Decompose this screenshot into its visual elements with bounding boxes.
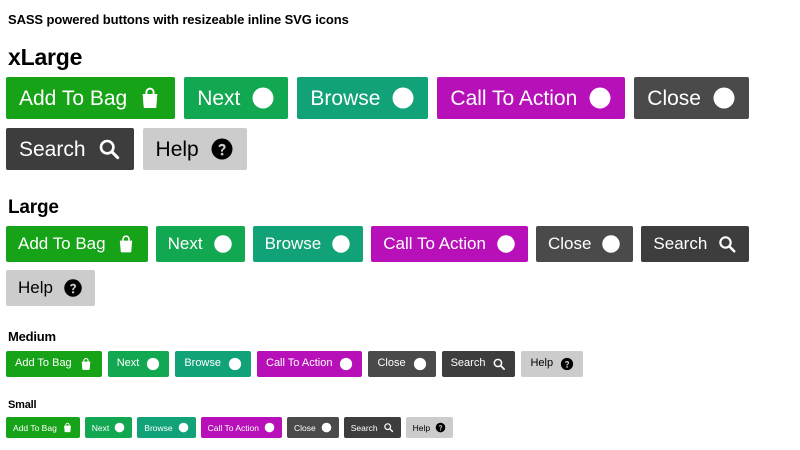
add-to-bag-button-label: Add To Bag <box>15 358 72 369</box>
help-button-medium[interactable]: Help <box>521 351 583 377</box>
button-row-small: Add To BagNextBrowseCall To ActionCloseS… <box>6 417 792 443</box>
question-circle-icon <box>435 422 446 433</box>
help-button-large[interactable]: Help <box>6 270 95 306</box>
close-circle-icon <box>321 422 332 433</box>
shopping-bag-icon <box>116 234 136 254</box>
magnifier-icon <box>492 357 506 371</box>
section-xsmall: xSmall Add To BagNextBrowseCall To Actio… <box>6 443 792 450</box>
close-circle-icon <box>712 86 736 110</box>
browse-button-xlarge[interactable]: Browse <box>297 77 428 119</box>
section-heading-xsmall: xSmall <box>8 443 792 450</box>
close-button-label: Close <box>548 235 591 252</box>
shopping-bag-icon <box>62 422 73 433</box>
shopping-bag-icon <box>79 357 93 371</box>
next-button-large[interactable]: Next <box>156 226 245 262</box>
next-button-label: Next <box>117 358 140 369</box>
section-large: Large Add To BagNextBrowseCall To Action… <box>6 179 792 314</box>
call-to-action-button-large[interactable]: Call To Action <box>371 226 528 262</box>
section-small: Small Add To BagNextBrowseCall To Action… <box>6 383 792 444</box>
shopping-bag-icon <box>138 86 162 110</box>
magnifier-icon <box>97 137 121 161</box>
add-to-bag-button-small[interactable]: Add To Bag <box>6 417 80 438</box>
next-button-small[interactable]: Next <box>85 417 132 438</box>
call-to-action-button-small[interactable]: Call To Action <box>201 417 282 438</box>
play-circle-icon <box>251 86 275 110</box>
section-heading-large: Large <box>8 179 792 226</box>
close-button-xlarge[interactable]: Close <box>634 77 749 119</box>
help-button-xlarge[interactable]: Help <box>143 128 247 170</box>
help-button-label: Help <box>156 139 199 160</box>
button-row-xlarge: Add To BagNextBrowseCall To ActionCloseS… <box>6 77 766 179</box>
browse-button-label: Browse <box>144 424 172 433</box>
close-button-label: Close <box>294 424 316 433</box>
section-heading-medium: Medium <box>8 314 792 351</box>
call-to-action-button-label: Call To Action <box>208 424 259 433</box>
question-circle-icon <box>63 278 83 298</box>
check-circle-icon <box>339 357 353 371</box>
add-to-bag-button-label: Add To Bag <box>18 235 106 252</box>
next-button-label: Next <box>92 424 109 433</box>
magnifier-icon <box>717 234 737 254</box>
add-to-bag-button-large[interactable]: Add To Bag <box>6 226 148 262</box>
close-circle-icon <box>413 357 427 371</box>
magnifier-icon <box>383 422 394 433</box>
add-to-bag-button-medium[interactable]: Add To Bag <box>6 351 102 377</box>
close-button-large[interactable]: Close <box>536 226 633 262</box>
chevron-down-circle-icon <box>391 86 415 110</box>
add-to-bag-button-label: Add To Bag <box>19 88 127 109</box>
close-button-label: Close <box>647 88 701 109</box>
next-button-medium[interactable]: Next <box>108 351 170 377</box>
chevron-down-circle-icon <box>331 234 351 254</box>
chevron-down-circle-icon <box>228 357 242 371</box>
next-button-label: Next <box>197 88 240 109</box>
close-button-label: Close <box>377 358 405 369</box>
help-button-label: Help <box>413 424 430 433</box>
next-button-label: Next <box>168 235 203 252</box>
browse-button-small[interactable]: Browse <box>137 417 195 438</box>
call-to-action-button-medium[interactable]: Call To Action <box>257 351 362 377</box>
section-medium: Medium Add To BagNextBrowseCall To Actio… <box>6 314 792 383</box>
play-circle-icon <box>114 422 125 433</box>
question-circle-icon <box>560 357 574 371</box>
check-circle-icon <box>264 422 275 433</box>
add-to-bag-button-xlarge[interactable]: Add To Bag <box>6 77 175 119</box>
browse-button-medium[interactable]: Browse <box>175 351 251 377</box>
search-button-label: Search <box>19 139 86 160</box>
browse-button-label: Browse <box>265 235 322 252</box>
section-heading-xlarge: xLarge <box>8 28 792 77</box>
button-row-medium: Add To BagNextBrowseCall To ActionCloseS… <box>6 351 792 383</box>
help-button-label: Help <box>530 358 553 369</box>
play-circle-icon <box>213 234 233 254</box>
page-title: SASS powered buttons with resizeable inl… <box>8 12 792 28</box>
question-circle-icon <box>210 137 234 161</box>
browse-button-label: Browse <box>184 358 221 369</box>
check-circle-icon <box>496 234 516 254</box>
browse-button-label: Browse <box>310 88 380 109</box>
play-circle-icon <box>146 357 160 371</box>
next-button-xlarge[interactable]: Next <box>184 77 288 119</box>
search-button-label: Search <box>351 424 378 433</box>
browse-button-large[interactable]: Browse <box>253 226 364 262</box>
search-button-label: Search <box>451 358 486 369</box>
check-circle-icon <box>588 86 612 110</box>
chevron-down-circle-icon <box>178 422 189 433</box>
search-button-small[interactable]: Search <box>344 417 401 438</box>
close-circle-icon <box>601 234 621 254</box>
search-button-medium[interactable]: Search <box>442 351 516 377</box>
search-button-label: Search <box>653 235 707 252</box>
add-to-bag-button-label: Add To Bag <box>13 424 57 433</box>
button-row-large: Add To BagNextBrowseCall To ActionCloseS… <box>6 226 792 314</box>
section-xlarge: xLarge Add To BagNextBrowseCall To Actio… <box>6 28 792 179</box>
help-button-label: Help <box>18 279 53 296</box>
call-to-action-button-label: Call To Action <box>450 88 577 109</box>
search-button-large[interactable]: Search <box>641 226 749 262</box>
help-button-small[interactable]: Help <box>406 417 453 438</box>
call-to-action-button-label: Call To Action <box>266 358 332 369</box>
page-root: SASS powered buttons with resizeable inl… <box>0 0 800 450</box>
call-to-action-button-label: Call To Action <box>383 235 486 252</box>
call-to-action-button-xlarge[interactable]: Call To Action <box>437 77 625 119</box>
section-heading-small: Small <box>8 383 792 418</box>
close-button-small[interactable]: Close <box>287 417 339 438</box>
search-button-xlarge[interactable]: Search <box>6 128 134 170</box>
close-button-medium[interactable]: Close <box>368 351 435 377</box>
